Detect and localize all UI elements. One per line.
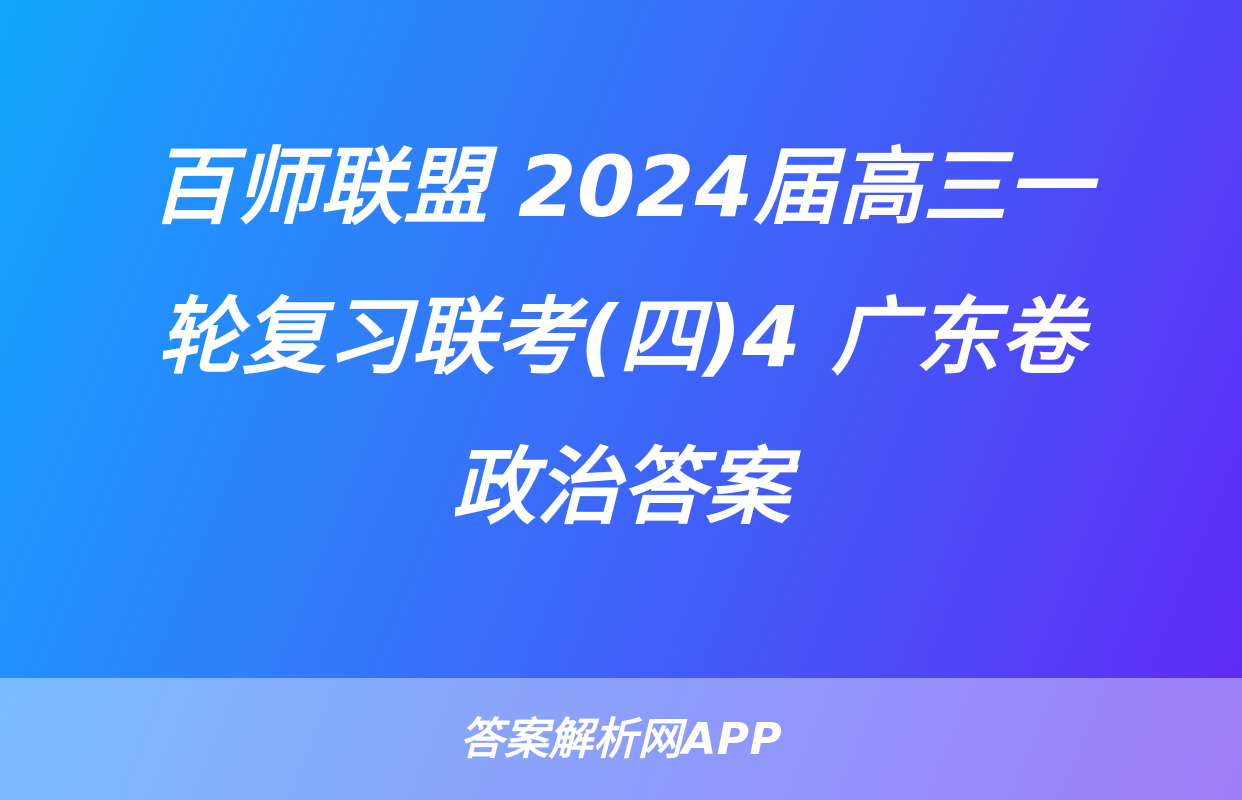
- headline-area: 百师联盟 2024届高三一 轮复习联考(四)4 广东卷 政治答案: [0, 0, 1242, 678]
- headline-line-3: 政治答案: [56, 412, 1186, 562]
- headline-line-1: 百师联盟 2024届高三一: [56, 112, 1186, 262]
- headline-line-2: 轮复习联考(四)4 广东卷: [56, 262, 1186, 412]
- footer-brand-label: 答案解析网APP: [460, 718, 783, 762]
- poster-card: 百师联盟 2024届高三一 轮复习联考(四)4 广东卷 政治答案 答案解析网AP…: [0, 0, 1242, 800]
- footer-band: 答案解析网APP: [0, 678, 1242, 800]
